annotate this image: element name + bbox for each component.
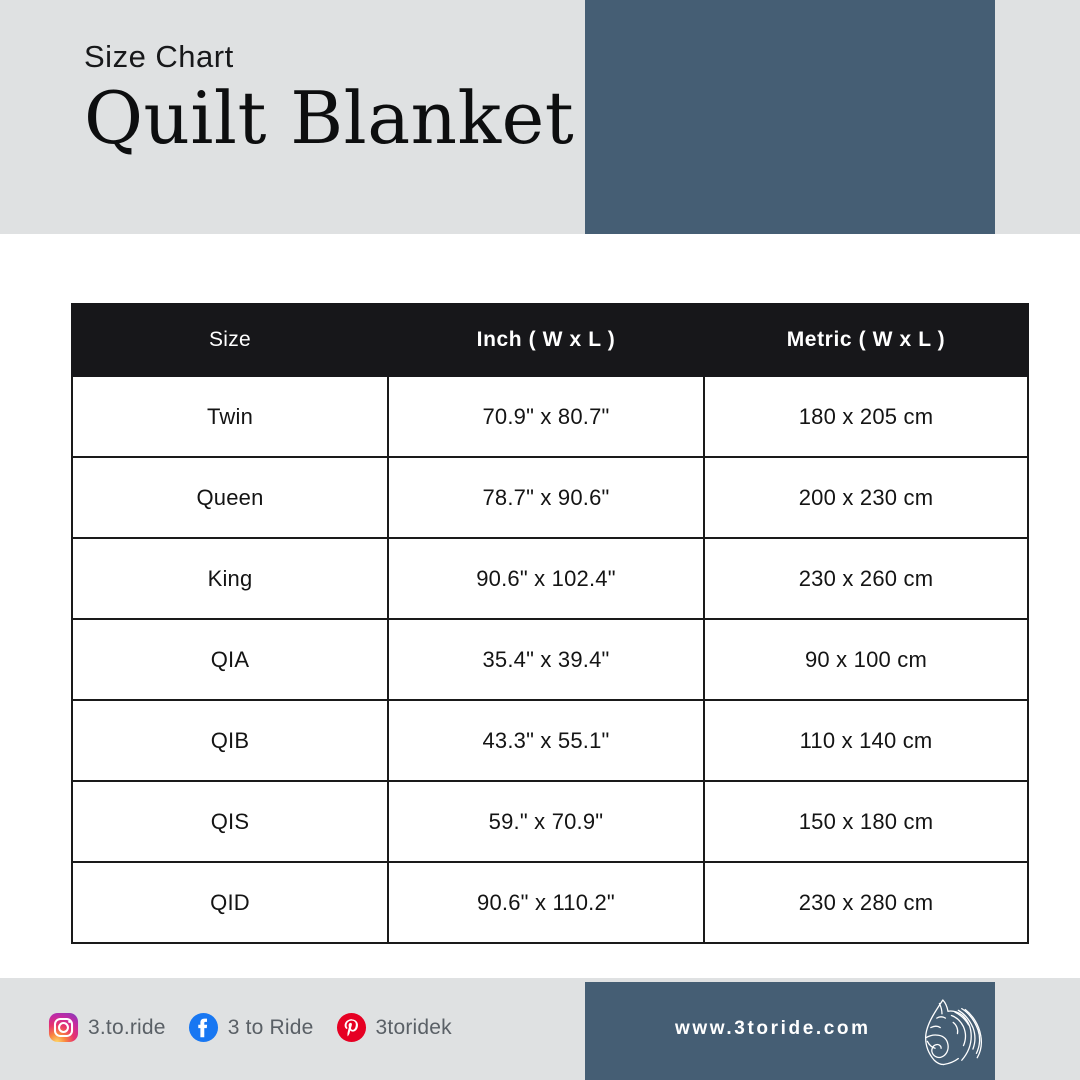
cell-size: QIB: [72, 700, 388, 781]
cell-size: Queen: [72, 457, 388, 538]
cell-inch: 78.7" x 90.6": [388, 457, 704, 538]
social-links: 3.to.ride 3 to Ride 3toridek: [48, 1012, 452, 1043]
column-header-metric: Metric ( W x L ): [704, 304, 1028, 376]
cell-metric: 110 x 140 cm: [704, 700, 1028, 781]
instagram-icon: [48, 1012, 79, 1043]
table-header-row: Size Inch ( W x L ) Metric ( W x L ): [72, 304, 1028, 376]
table-row: Queen 78.7" x 90.6" 200 x 230 cm: [72, 457, 1028, 538]
cell-metric: 150 x 180 cm: [704, 781, 1028, 862]
cell-size: QIS: [72, 781, 388, 862]
table-row: QIS 59." x 70.9" 150 x 180 cm: [72, 781, 1028, 862]
column-header-inch: Inch ( W x L ): [388, 304, 704, 376]
table-row: King 90.6" x 102.4" 230 x 260 cm: [72, 538, 1028, 619]
cell-inch: 59." x 70.9": [388, 781, 704, 862]
cell-size: QID: [72, 862, 388, 943]
header-text-group: Size Chart Quilt Blanket: [84, 40, 564, 158]
cell-size: King: [72, 538, 388, 619]
size-chart-table: Size Inch ( W x L ) Metric ( W x L ) Twi…: [71, 303, 1029, 944]
social-label-facebook: 3 to Ride: [228, 1016, 314, 1040]
social-link-facebook[interactable]: 3 to Ride: [188, 1012, 314, 1043]
page-title: Quilt Blanket: [84, 80, 564, 158]
table-header: Size Inch ( W x L ) Metric ( W x L ): [72, 304, 1028, 376]
cell-metric: 230 x 260 cm: [704, 538, 1028, 619]
cell-metric: 180 x 205 cm: [704, 376, 1028, 457]
cell-metric: 200 x 230 cm: [704, 457, 1028, 538]
cell-inch: 35.4" x 39.4": [388, 619, 704, 700]
cell-metric: 230 x 280 cm: [704, 862, 1028, 943]
cell-inch: 43.3" x 55.1": [388, 700, 704, 781]
horse-head-logo: [905, 988, 991, 1074]
column-header-size: Size: [72, 304, 388, 376]
cell-inch: 90.6" x 102.4": [388, 538, 704, 619]
social-link-instagram[interactable]: 3.to.ride: [48, 1012, 166, 1043]
cell-size: QIA: [72, 619, 388, 700]
header-accent-panel: [585, 0, 995, 234]
social-label-instagram: 3.to.ride: [88, 1016, 166, 1040]
cell-inch: 70.9" x 80.7": [388, 376, 704, 457]
facebook-icon: [188, 1012, 219, 1043]
table-row: QID 90.6" x 110.2" 230 x 280 cm: [72, 862, 1028, 943]
table-body: Twin 70.9" x 80.7" 180 x 205 cm Queen 78…: [72, 376, 1028, 943]
cell-inch: 90.6" x 110.2": [388, 862, 704, 943]
website-url[interactable]: www.3toride.com: [675, 1018, 871, 1040]
table-row: QIA 35.4" x 39.4" 90 x 100 cm: [72, 619, 1028, 700]
size-chart-table-wrapper: Size Inch ( W x L ) Metric ( W x L ) Twi…: [71, 303, 1027, 944]
table-row: QIB 43.3" x 55.1" 110 x 140 cm: [72, 700, 1028, 781]
table-row: Twin 70.9" x 80.7" 180 x 205 cm: [72, 376, 1028, 457]
social-link-pinterest[interactable]: 3toridek: [336, 1012, 452, 1043]
pinterest-icon: [336, 1012, 367, 1043]
cell-metric: 90 x 100 cm: [704, 619, 1028, 700]
eyebrow-label: Size Chart: [84, 40, 564, 74]
social-label-pinterest: 3toridek: [376, 1016, 452, 1040]
cell-size: Twin: [72, 376, 388, 457]
